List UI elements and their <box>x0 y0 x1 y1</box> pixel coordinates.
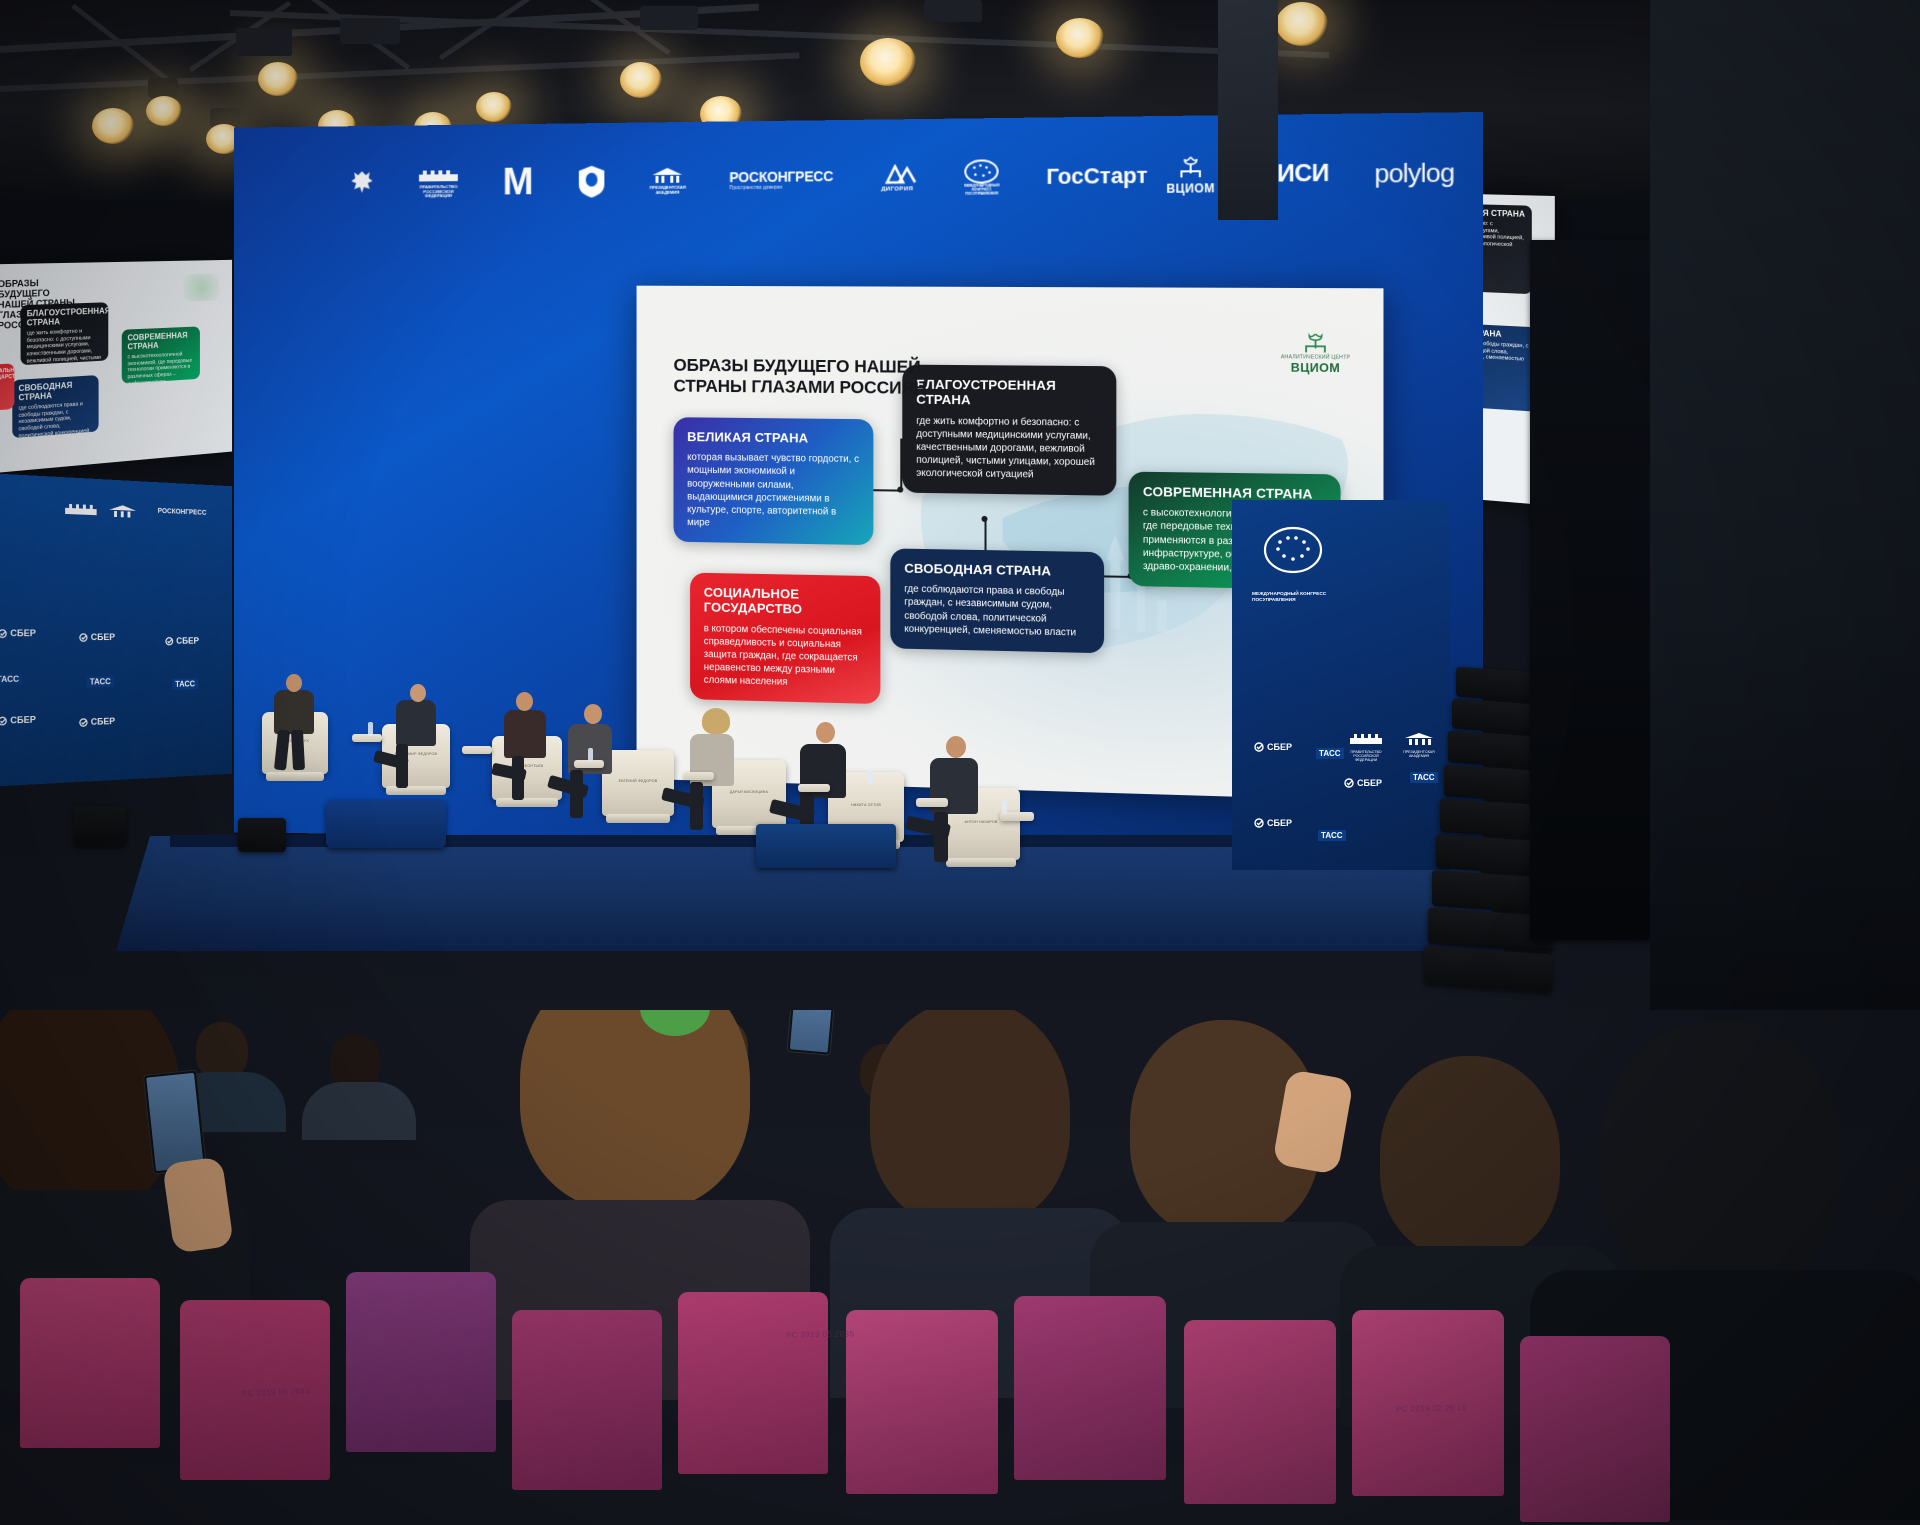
panelist-torso <box>504 710 546 758</box>
seat-code: PC 2019 02 20 19 <box>1396 1403 1467 1413</box>
sber-logo: СБЕР <box>1254 742 1292 752</box>
panel-chair: ЕВГЕНИЙ ФЕДОРОВ <box>602 750 674 816</box>
audience-head-foreground <box>870 1010 1070 1226</box>
projector-box <box>236 28 292 56</box>
sber-logo: СБЕР <box>165 636 199 646</box>
roscongress-banner-logo-left: РОСКОНГРЕСС <box>158 508 207 517</box>
side-card-well: БЛАГОУСТРОЕННАЯ СТРАНА где жить комфортн… <box>21 302 109 365</box>
card-social-state: СОЦИАЛЬНОЕ ГОСУДАРСТВО в котором обеспеч… <box>690 573 880 705</box>
side-table <box>462 746 492 754</box>
card-body: где соблюдаются права и свободы граждан,… <box>904 583 1090 640</box>
stage-light <box>1276 2 1328 46</box>
roscongress-logo: РОСКОНГРЕСС Пространство доверия <box>729 168 833 191</box>
panelist-head <box>816 722 835 743</box>
auditorium-seat <box>512 1310 662 1490</box>
congress-emblem-icon <box>1258 518 1328 588</box>
academy-banner-logo-left <box>108 504 137 524</box>
sber-logo: СБЕР <box>1254 818 1292 828</box>
panel-nameplate: ЕВГЕНИЙ ФЕДОРОВ <box>602 779 674 783</box>
sber-mark-icon <box>1344 778 1354 788</box>
side-card-social: СОЦИАЛЬНОЕ ГОСУДАРСТВО <box>0 363 14 411</box>
panelist-head <box>410 684 426 702</box>
card-body: в котором обеспечены социальная справедл… <box>704 622 867 691</box>
phone-screen <box>790 1010 834 1053</box>
tree-icon <box>1301 332 1330 355</box>
stage-monitor <box>238 818 286 852</box>
russia-coat-of-arms-logo <box>349 169 374 199</box>
card-body: которая вызывает чувство гордости, с мощ… <box>687 451 859 532</box>
auditorium-seat <box>346 1272 496 1452</box>
side-screen-vciom-logo <box>184 274 220 302</box>
nizhny-novgorod-logo <box>577 165 606 199</box>
polylog-logo: polylog <box>1374 157 1454 189</box>
stage-monitor <box>74 806 126 846</box>
vciom-logo-slide: АНАЛИТИЧЕСКИЙ ЦЕНТР ВЦИОМ <box>1271 331 1361 377</box>
side-card-free: СВОБОДНАЯ СТРАНА где соблюдаются права и… <box>12 375 98 438</box>
government-banner-logo-left <box>51 501 110 520</box>
sponsor-banner: МЕЖДУНАРОДНЫЙ КОНГРЕСС ПОСУПРАВЛЕНИЯ ПРА… <box>1232 500 1450 870</box>
digoria-logo: ДИГОРИЯ <box>877 164 917 192</box>
side-card-modern: СОВРЕМЕННАЯ СТРАНА с высокотехнологичной… <box>122 326 200 383</box>
panelist-head <box>946 736 966 758</box>
auditorium-seat <box>20 1278 160 1448</box>
sber-logo: СБЕР <box>0 714 36 726</box>
connector-dot <box>981 516 987 522</box>
panelist-leg <box>512 756 524 800</box>
tass-logo: ТАСС <box>173 679 198 690</box>
stage-light <box>476 92 512 122</box>
sber-logo: СБЕР <box>79 632 115 642</box>
panelist-head <box>516 692 533 711</box>
academy-banner-logo: ПРЕЗИДЕНТСКАЯ АКАДЕМИЯ <box>1396 732 1442 759</box>
stage-light-body <box>96 88 130 110</box>
stage-light <box>1056 18 1104 58</box>
side-table <box>916 798 948 807</box>
hall-pillar <box>1218 0 1278 220</box>
projector-box <box>924 0 982 22</box>
panelist-head <box>584 704 602 724</box>
smartphone <box>787 1010 838 1056</box>
audience-area: PC 2019 06 2044 PC 2019 05 2035 PC 2019 … <box>0 1010 1920 1525</box>
panelist-leg <box>934 812 948 862</box>
side-table <box>352 734 382 742</box>
panelist-torso <box>396 700 436 746</box>
presidential-academy-logo: ПРЕЗИДЕНТСКАЯ АКАДЕМИЯ <box>649 167 686 195</box>
panelist-leg <box>291 730 305 771</box>
auditorium-seat <box>1520 1336 1670 1522</box>
stage-light <box>860 38 916 86</box>
vciom-logo-wall: ВЦИОМ <box>1166 155 1214 196</box>
panel-nameplate: НИКИТА СЕТОВ <box>828 803 904 807</box>
audience-head-foreground <box>520 1010 750 1210</box>
right-wall <box>1650 0 1920 1010</box>
tass-logo: ТАСС <box>1410 772 1438 783</box>
tass-logo: ТАСС <box>1316 748 1344 759</box>
stage-light <box>92 108 134 144</box>
card-title: СОЦИАЛЬНОЕ ГОСУДАРСТВО <box>704 585 867 619</box>
government-banner-logo: ПРАВИТЕЛЬСТВО РОССИЙСКОЙ ФЕДЕРАЦИИ <box>1344 732 1388 763</box>
stage-riser <box>756 824 896 868</box>
stage-light <box>620 62 662 98</box>
card-great-country: ВЕЛИКАЯ СТРАНА которая вызывает чувство … <box>673 417 873 545</box>
international-congress-logo: МЕЖДУНАРОДНЫЙ КОНГРЕСС ПОСУПРАВЛЕНИЯ <box>962 158 1002 196</box>
water-bottle <box>1002 800 1007 814</box>
congress-banner-label: МЕЖДУНАРОДНЫЙ КОНГРЕСС ПОСУПРАВЛЕНИЯ <box>1252 592 1348 604</box>
panelist-head <box>286 674 302 692</box>
panel-nameplate: ДАРЬЯ КИСЛИЦИНА <box>712 790 786 794</box>
panelist-leg <box>570 770 583 818</box>
audience-shoulders <box>302 1082 416 1140</box>
vciom-name: ВЦИОМ <box>1291 360 1340 375</box>
tass-logo: ТАСС <box>0 673 22 685</box>
auditorium-seat <box>1352 1310 1504 1496</box>
water-bottle <box>368 722 373 736</box>
connector-dot <box>897 487 903 493</box>
left-side-screen: ОБРАЗЫ БУДУЩЕГО НАШЕЙ СТРАНЫ ГЛАЗАМИ РОС… <box>0 260 232 474</box>
sber-logo: СБЕР <box>0 628 36 638</box>
card-free-country: СВОБОДНАЯ СТРАНА где соблюдаются права и… <box>890 548 1104 653</box>
seat-code: PC 2019 05 2035 <box>786 1329 854 1339</box>
side-table <box>798 784 830 792</box>
stage-light-body <box>148 78 178 98</box>
auditorium-seat <box>1184 1320 1336 1504</box>
water-bottle <box>588 748 593 762</box>
card-body: где жить комфортно и безопасно: с доступ… <box>916 414 1102 482</box>
auditorium-seat <box>1014 1296 1166 1480</box>
water-bottle <box>868 770 873 784</box>
auditorium-seat <box>846 1310 998 1494</box>
hand <box>162 1156 234 1253</box>
audience-head-foreground <box>1600 1020 1840 1290</box>
panelist-hair <box>702 708 730 734</box>
stage-light <box>258 62 298 96</box>
auditorium-seat <box>678 1292 828 1474</box>
panelist-leg <box>690 782 703 830</box>
projector-box <box>340 18 400 44</box>
right-wall-column <box>1530 240 1650 940</box>
side-table <box>684 772 714 780</box>
sber-logo: СБЕР <box>1344 778 1382 788</box>
panelist-leg <box>396 744 408 788</box>
moscow-m-logo: M <box>503 161 534 204</box>
sber-mark-icon <box>1254 742 1264 752</box>
sber-logo: СБЕР <box>79 716 115 727</box>
gosstart-logo: ГосСтарт <box>1046 166 1121 188</box>
sber-mark-icon <box>1254 818 1264 828</box>
conference-hall-photo: ОБРАЗЫ БУДУЩЕГО НАШЕЙ СТРАНЫ ГЛАЗАМИ РОС… <box>0 0 1920 1525</box>
tass-logo: ТАСС <box>1318 830 1346 841</box>
slide-title: ОБРАЗЫ БУДУЩЕГО НАШЕЙ СТРАНЫ ГЛАЗАМИ РОС… <box>673 355 970 400</box>
panelist-torso <box>274 690 314 734</box>
government-of-russia-logo: ПРАВИТЕЛЬСТВО РОССИЙСКОЙ ФЕДЕРАЦИИ <box>417 167 460 200</box>
card-title: ВЕЛИКАЯ СТРАНА <box>687 429 859 446</box>
phone-screen <box>146 1073 204 1172</box>
projector-box <box>640 6 698 30</box>
audience-head-foreground <box>1380 1056 1560 1258</box>
card-title: СВОБОДНАЯ СТРАНА <box>904 561 1090 580</box>
stage-light <box>146 96 182 126</box>
truss-brace <box>439 0 541 60</box>
left-sponsor-banner: РОСКОНГРЕСС СБЕР СБЕР СБЕР ТАСС ТАСС ТАС… <box>0 473 232 787</box>
tass-logo: ТАСС <box>87 676 114 688</box>
stage-riser <box>326 800 446 848</box>
